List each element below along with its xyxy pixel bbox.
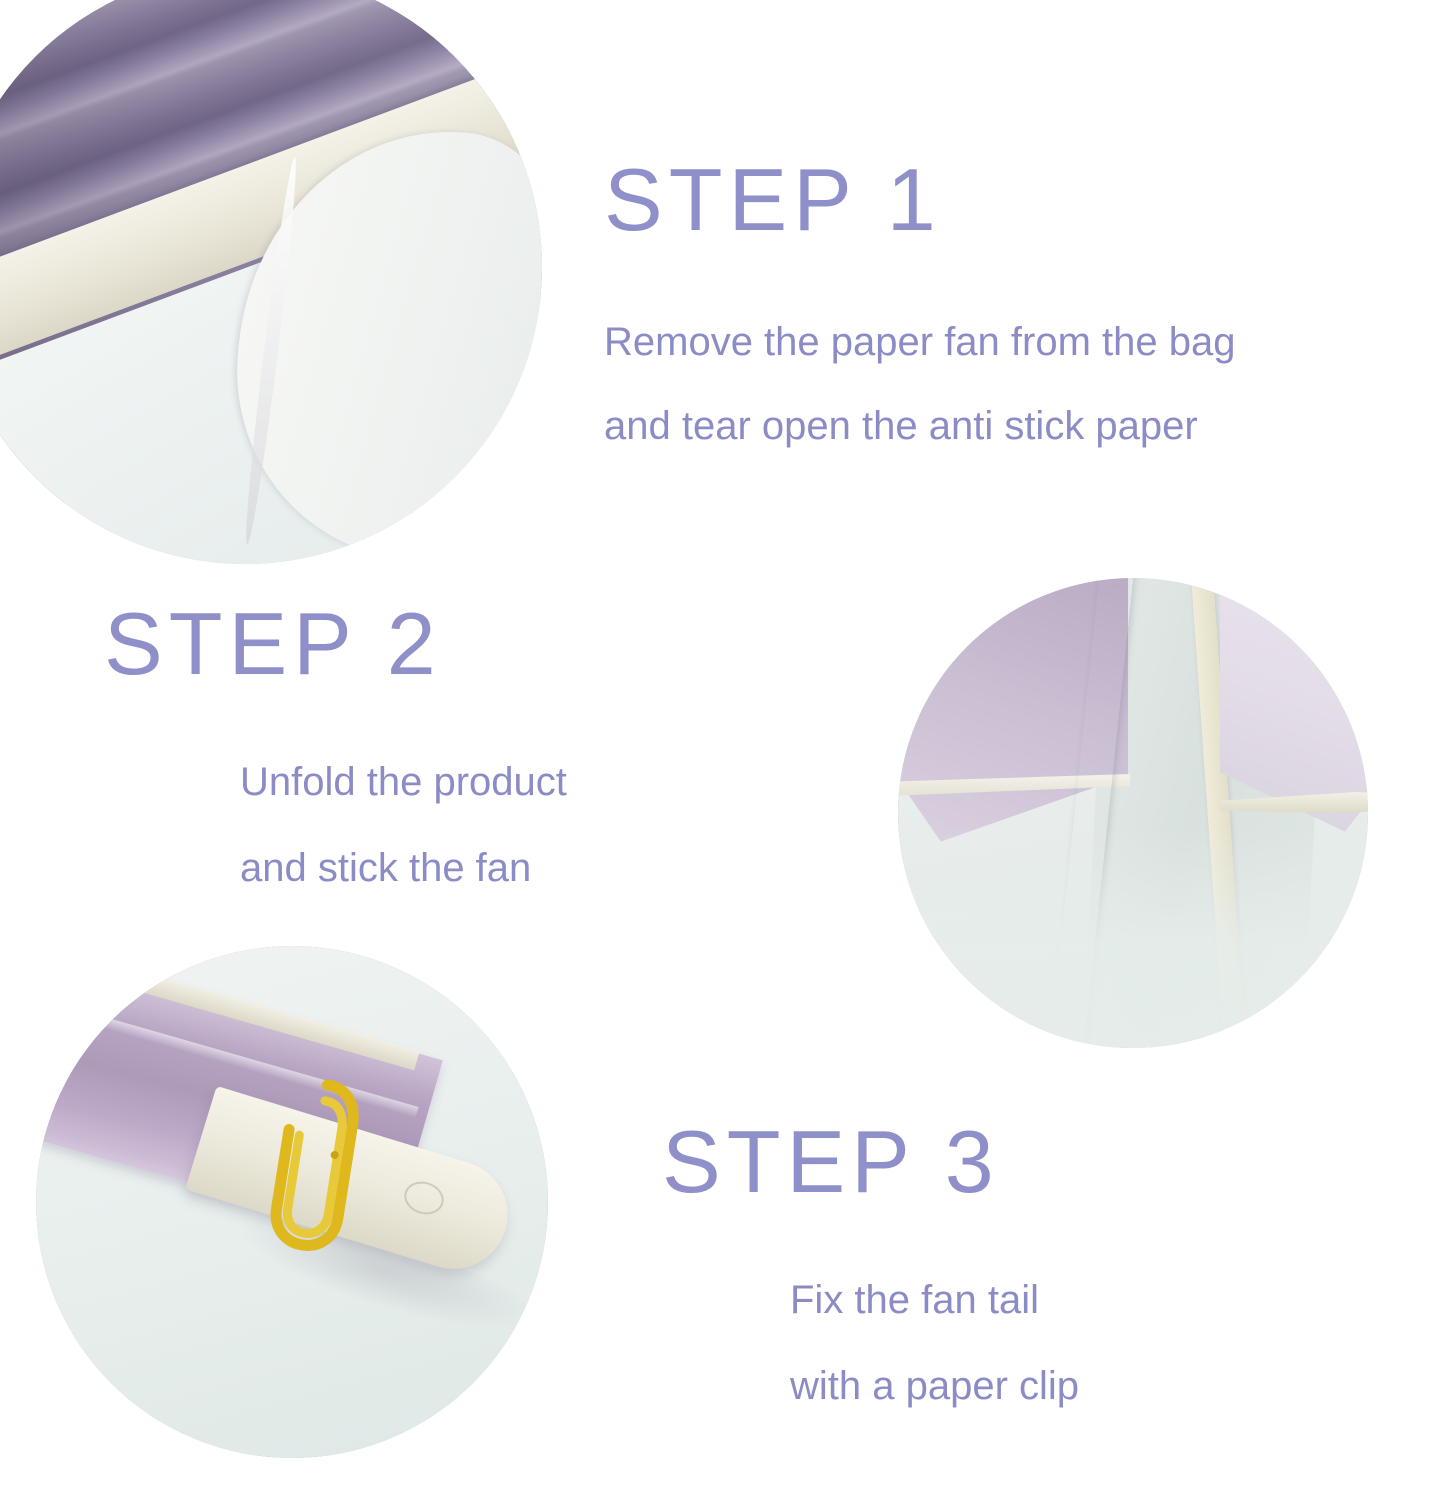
step-3-line-2: with a paper clip [790,1366,1079,1406]
step-1-line-1: Remove the paper fan from the bag [604,322,1235,362]
step-1-block: STEP 1 Remove the paper fan from the bag… [604,156,1235,446]
step-3-block: STEP 3 Fix the fan tail with a paper cli… [662,1118,1079,1406]
fan-pleats-photo [0,0,542,564]
step-1-line-2: and tear open the anti stick paper [604,406,1235,446]
step-2-line-2: and stick the fan [240,848,567,888]
step-3-title: STEP 3 [662,1118,1079,1206]
instruction-infographic: STEP 1 Remove the paper fan from the bag… [0,0,1445,1486]
step-2-line-1: Unfold the product [240,762,567,802]
step-1-title: STEP 1 [604,156,1235,244]
lower-surface-wash [898,828,1368,1048]
step-2-block: STEP 2 Unfold the product and stick the … [104,600,567,888]
paperclip-tail-photo [36,946,548,1458]
step-2-title: STEP 2 [104,600,567,688]
step-3-line-1: Fix the fan tail [790,1280,1079,1320]
unfolded-fan-photo [898,578,1368,1048]
